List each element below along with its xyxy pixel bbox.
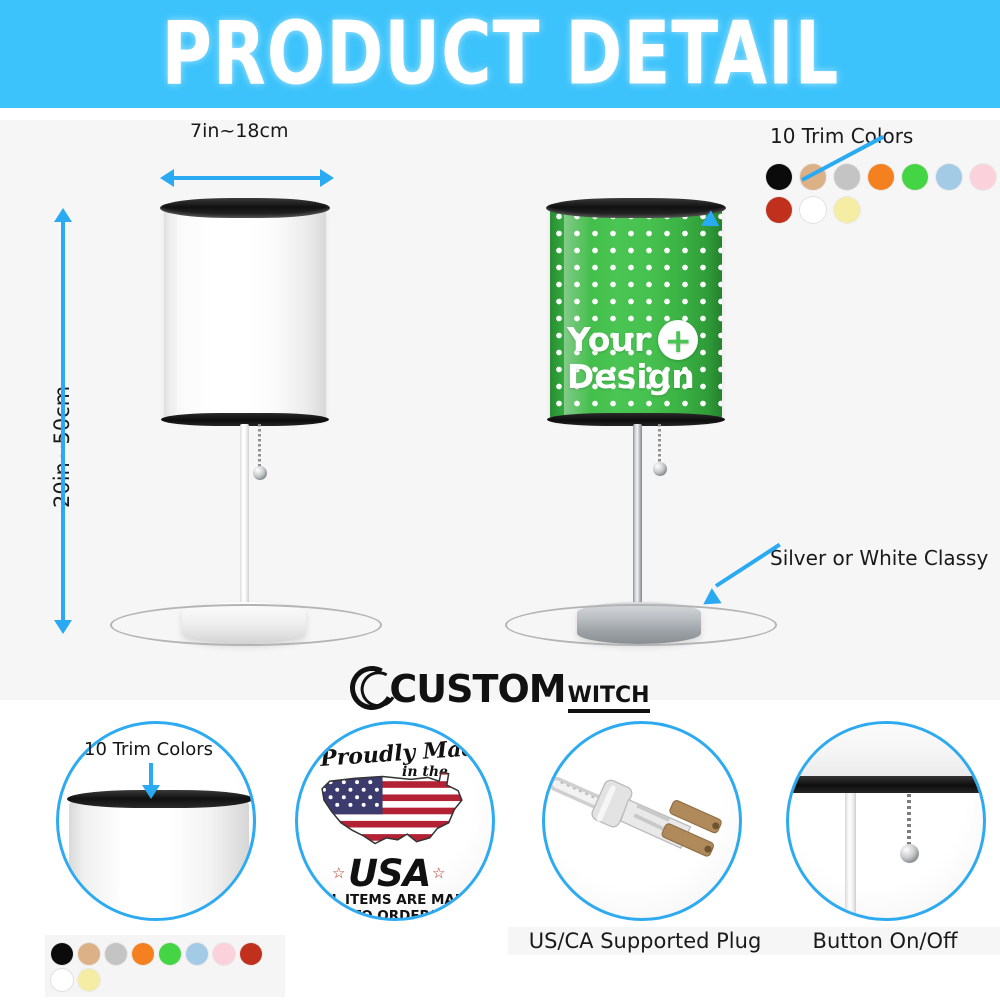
swatch-green[interactable] [159, 943, 181, 965]
your-design-line1: Your [567, 323, 650, 357]
feature-plug-caption: US/CA Supported Plug [508, 927, 782, 955]
mini-shade-switch [786, 721, 986, 776]
swatch-white[interactable] [800, 197, 826, 223]
trim-colors-label: 10 Trim Colors [770, 124, 913, 148]
shade-surface [164, 208, 326, 420]
lamp-shade-white [164, 208, 326, 420]
width-dimension-label: 7in~18cm [190, 120, 288, 142]
swatch-yellow[interactable] [78, 969, 100, 991]
power-plug-icon [545, 724, 739, 918]
trim-colors-pointer-arrow [688, 166, 798, 236]
feature-switch: Button On/Off [770, 715, 1000, 1000]
trim-colors-callout: 10 Trim Colors [770, 124, 913, 148]
swatch-orange[interactable] [868, 164, 894, 190]
swatch-light-blue[interactable] [186, 943, 208, 965]
brand-logo: CUSTOM WITCH [0, 655, 1000, 715]
your-design-line2: Design [567, 360, 715, 394]
usa-map-flag-icon [316, 768, 468, 853]
usa-badge-word: USA [348, 852, 430, 895]
trim-color-swatches-top[interactable] [766, 164, 1000, 223]
header-banner: PRODUCT DETAIL [0, 0, 1000, 108]
swatch-green[interactable] [902, 164, 928, 190]
feature-circle-switch [786, 721, 986, 921]
usa-star-right-icon: ☆ [432, 864, 445, 882]
swatch-pink[interactable] [213, 943, 235, 965]
pull-chain-green[interactable] [658, 424, 678, 484]
usa-badge-subtext: ALL ITEMS ARE MADE TO ORDER! [302, 892, 486, 921]
brand-name-secondary: WITCH [568, 683, 650, 713]
feature-circle-usa: Proudly Made in the [295, 721, 495, 921]
page-title: PRODUCT DETAIL [161, 3, 839, 104]
pull-chain-switch[interactable] [907, 794, 927, 874]
feature-made-in-usa: Proudly Made in the [285, 715, 505, 1000]
swatch-gray[interactable] [834, 164, 860, 190]
swatch-light-blue[interactable] [936, 164, 962, 190]
swatch-tan[interactable] [78, 943, 100, 965]
swatch-orange[interactable] [132, 943, 154, 965]
mini-pole-switch [845, 793, 856, 913]
swatch-pink[interactable] [970, 164, 996, 190]
lamp-shade-green: Your + Design [550, 208, 722, 420]
feature-switch-caption: Button On/Off [770, 927, 1000, 955]
mini-shade-trim-black [67, 790, 253, 808]
product-detail-panel: 7in~18cm 20in~50cm [0, 108, 1000, 700]
mini-shade-white [69, 800, 249, 921]
brand-name-primary: CUSTOM [389, 667, 565, 711]
trim-color-swatches-bottom[interactable] [45, 935, 285, 997]
swatch-black[interactable] [51, 943, 73, 965]
lamp-pole-white [240, 424, 249, 624]
swatch-yellow[interactable] [834, 197, 860, 223]
swatch-gray[interactable] [105, 943, 127, 965]
feature-highlights: 10 Trim Colors Proudly Made in the [0, 715, 1000, 1000]
usa-star-left-icon: ☆ [332, 864, 345, 882]
your-design-placeholder: Your + Design [557, 320, 715, 394]
plus-icon[interactable]: + [658, 320, 698, 360]
pull-chain-white[interactable] [258, 424, 278, 484]
lamp-pole-silver [633, 424, 642, 624]
shade-trim-top [160, 198, 330, 218]
feature-plug: US/CA Supported Plug [530, 715, 760, 1000]
lamp-white: 7in~18cm 20in~50cm [0, 108, 420, 700]
power-cord-white [110, 604, 382, 646]
base-finish-pointer-arrow [702, 558, 792, 618]
swatch-red[interactable] [240, 943, 262, 965]
base-finish-label: Silver or White Classy [770, 546, 988, 570]
mini-trim-switch [786, 776, 986, 793]
feature-circle-plug [542, 721, 742, 921]
swatch-white[interactable] [51, 969, 73, 991]
feature-trim-inner-label: 10 Trim Colors [84, 739, 213, 760]
